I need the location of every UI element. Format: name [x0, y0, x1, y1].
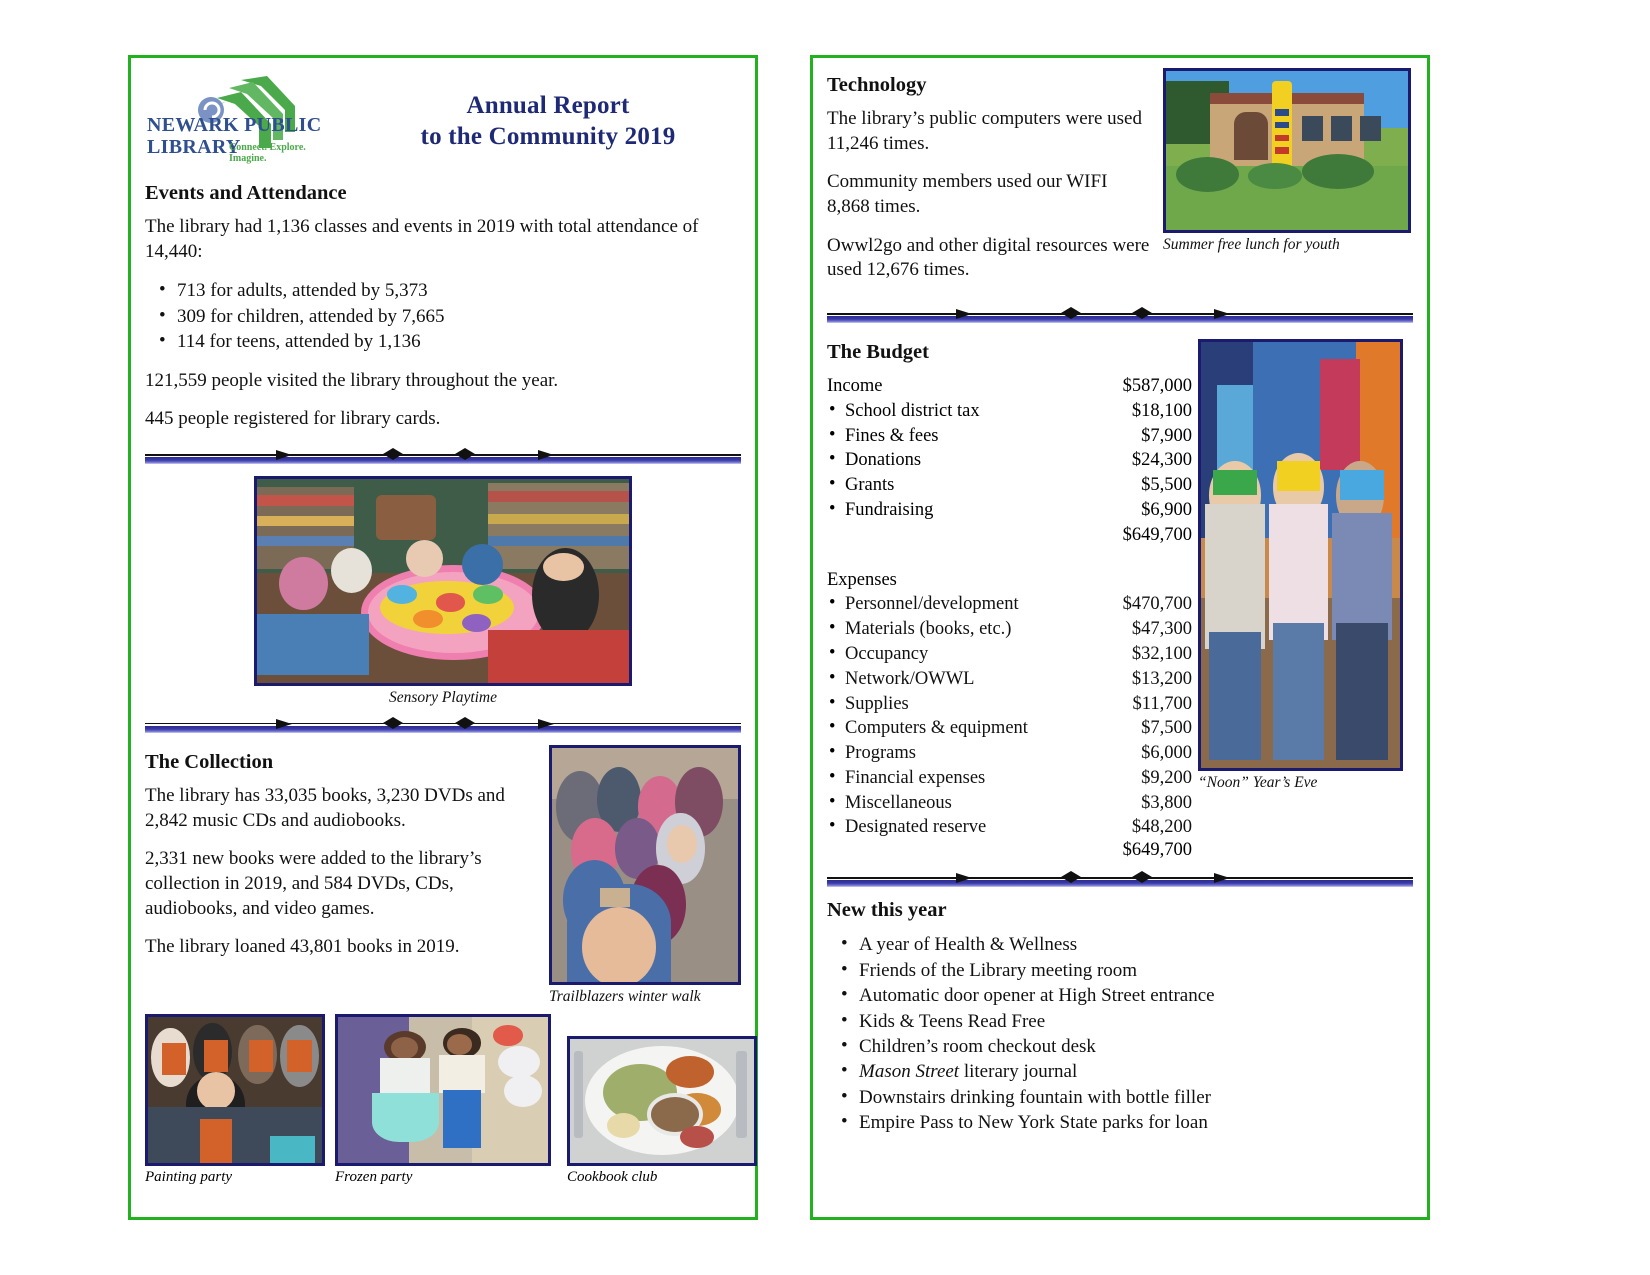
- list-item: Mason Street literary journal: [841, 1059, 1413, 1084]
- expense-value: $47,300: [1080, 617, 1192, 642]
- income-value: $18,100: [1072, 399, 1192, 424]
- income-value: $5,500: [1072, 473, 1192, 498]
- list-item: Kids & Teens Read Free: [841, 1009, 1413, 1034]
- list-item: A year of Health & Wellness: [841, 932, 1413, 957]
- table-row: Materials (books, etc.)$47,300: [827, 617, 1192, 642]
- expense-label: Miscellaneous: [845, 791, 1080, 816]
- events-visits: 121,559 people visited the library throu…: [145, 369, 741, 394]
- thumbnail-frozen-party: Frozen party: [335, 1014, 551, 1186]
- list-item: School district tax: [827, 399, 1072, 424]
- expense-label: Programs: [845, 741, 1080, 766]
- ornament-divider: [145, 446, 741, 466]
- expense-label: Personnel/development: [845, 592, 1080, 617]
- thumbnail-painting-party: Painting party: [145, 1014, 325, 1186]
- left-panel: NEWARK PUBLIC LIBRARY Connect. Explore. …: [128, 55, 758, 1220]
- income-value: $24,300: [1072, 448, 1192, 473]
- table-row: Network/OWWL$13,200: [827, 667, 1192, 692]
- list-item: Downstairs drinking fountain with bottle…: [841, 1085, 1413, 1110]
- income-value: $7,900: [1072, 424, 1192, 449]
- events-intro: The library had 1,136 classes and events…: [145, 215, 741, 264]
- income-total: $649,700: [1072, 523, 1192, 548]
- thumbnail-caption-italic: Frozen: [335, 1169, 377, 1185]
- expense-label: Materials (books, etc.): [845, 617, 1080, 642]
- expense-label: Supplies: [845, 692, 1080, 717]
- noon-caption: “Noon” Year’s Eve: [1198, 774, 1403, 792]
- annual-report-page: NEWARK PUBLIC LIBRARY Connect. Explore. …: [0, 0, 1650, 1275]
- list-item-text: literary journal: [959, 1061, 1077, 1082]
- technology-heading: Technology: [827, 74, 1151, 97]
- income-label: Income: [827, 374, 1072, 399]
- logo-tagline: Connect. Explore. Imagine.: [229, 142, 345, 164]
- income-table: Income School district tax Fines & fees …: [827, 374, 1192, 547]
- expense-value: $32,100: [1080, 642, 1192, 667]
- list-item: Grants: [827, 473, 1072, 498]
- expense-value: $48,200: [1080, 815, 1192, 840]
- income-value: $587,000: [1072, 374, 1192, 399]
- ornament-divider: [145, 715, 741, 735]
- title-line-1: Annual Report: [355, 90, 741, 121]
- title-line-2: to the Community 2019: [355, 121, 741, 152]
- table-row: Programs$6,000: [827, 741, 1192, 766]
- technology-para-3: Owwl2go and other digital resources were…: [827, 234, 1151, 283]
- sensory-photo-caption: Sensory Playtime: [145, 689, 741, 707]
- new-this-year-list: A year of Health & Wellness Friends of t…: [827, 932, 1413, 1136]
- expense-value: $11,700: [1080, 692, 1192, 717]
- events-bullet-list: 713 for adults, attended by 5,373 309 fo…: [145, 278, 741, 354]
- table-row: Financial expenses$9,200: [827, 766, 1192, 791]
- budget-heading: The Budget: [827, 341, 1192, 364]
- list-item: Empire Pass to New York State parks for …: [841, 1110, 1413, 1135]
- right-panel: Technology The library’s public computer…: [810, 55, 1430, 1220]
- expense-value: $6,000: [1080, 741, 1192, 766]
- thumbnail-cookbook-club: Cookbook club: [567, 1036, 757, 1186]
- expense-value: $9,200: [1080, 766, 1192, 791]
- summer-lunch-caption: Summer free lunch for youth: [1163, 236, 1413, 254]
- ornament-divider: [827, 305, 1413, 325]
- trailblazers-caption: Trailblazers winter walk: [549, 988, 741, 1006]
- income-item-list: School district tax Fines & fees Donatio…: [827, 399, 1072, 523]
- list-item: Automatic door opener at High Street ent…: [841, 983, 1413, 1008]
- sensory-playtime-photo: [254, 476, 632, 686]
- library-logo: NEWARK PUBLIC LIBRARY Connect. Explore. …: [145, 68, 345, 168]
- expense-label: Designated reserve: [845, 815, 1080, 840]
- expense-label: Financial expenses: [845, 766, 1080, 791]
- logo-name-line2: LIBRARY: [147, 136, 241, 159]
- logo-name-line1: NEWARK PUBLIC: [147, 114, 321, 137]
- income-values-column: $587,000 $18,100 $7,900 $24,300 $5,500 $…: [1072, 374, 1192, 547]
- expense-value: $3,800: [1080, 791, 1192, 816]
- technology-section: Technology The library’s public computer…: [827, 68, 1413, 297]
- collection-section: The Collection The library has 33,035 bo…: [145, 745, 741, 1006]
- trailblazers-photo: [549, 745, 741, 985]
- report-header: NEWARK PUBLIC LIBRARY Connect. Explore. …: [145, 68, 741, 176]
- list-item: 713 for adults, attended by 5,373: [159, 278, 741, 303]
- expenses-label: Expenses: [827, 568, 1192, 593]
- expenses-table: Personnel/development$470,700 Materials …: [827, 592, 1192, 840]
- thumbnail-caption: Cookbook club: [567, 1169, 757, 1186]
- collection-para-1: The library has 33,035 books, 3,230 DVDs…: [145, 784, 539, 833]
- thumbnail-caption: Painting party: [145, 1169, 325, 1186]
- collection-heading: The Collection: [145, 751, 539, 774]
- table-row: Personnel/development$470,700: [827, 592, 1192, 617]
- expense-label: Occupancy: [845, 642, 1080, 667]
- events-heading: Events and Attendance: [145, 182, 741, 205]
- list-item: 114 for teens, attended by 1,136: [159, 329, 741, 354]
- table-row: Designated reserve$48,200: [827, 815, 1192, 840]
- page-title: Annual Report to the Community 2019: [355, 68, 741, 153]
- technology-para-2: Community members used our WIFI 8,868 ti…: [827, 170, 1151, 219]
- list-item: Fines & fees: [827, 424, 1072, 449]
- expense-label: Computers & equipment: [845, 716, 1080, 741]
- technology-para-1: The library’s public computers were used…: [827, 107, 1151, 156]
- list-item: Friends of the Library meeting room: [841, 958, 1413, 983]
- collection-para-3: The library loaned 43,801 books in 2019.: [145, 935, 539, 960]
- list-item-italic: Mason Street: [859, 1061, 959, 1082]
- list-item: Children’s room checkout desk: [841, 1034, 1413, 1059]
- expense-value: $13,200: [1080, 667, 1192, 692]
- noon-years-eve-photo: [1198, 339, 1403, 771]
- list-item: Fundraising: [827, 498, 1072, 523]
- expense-label: Network/OWWL: [845, 667, 1080, 692]
- table-row: Computers & equipment$7,500: [827, 716, 1192, 741]
- ornament-divider: [827, 869, 1413, 889]
- table-row: Miscellaneous$3,800: [827, 791, 1192, 816]
- list-item: Donations: [827, 448, 1072, 473]
- thumbnail-row: Painting party: [145, 1014, 741, 1186]
- budget-section: The Budget Income School district tax Fi…: [827, 335, 1413, 861]
- table-row: Supplies$11,700: [827, 692, 1192, 717]
- table-row: Occupancy$32,100: [827, 642, 1192, 667]
- summer-lunch-photo: [1163, 68, 1411, 233]
- income-value: $6,900: [1072, 498, 1192, 523]
- thumbnail-caption-word: party: [381, 1169, 413, 1185]
- expenses-total: $649,700: [1070, 840, 1192, 861]
- events-cards: 445 people registered for library cards.: [145, 407, 741, 432]
- thumbnail-caption: Frozen party: [335, 1169, 551, 1186]
- list-item: 309 for children, attended by 7,665: [159, 304, 741, 329]
- expense-value: $470,700: [1080, 592, 1192, 617]
- collection-para-2: 2,331 new books were added to the librar…: [145, 847, 539, 921]
- expense-value: $7,500: [1080, 716, 1192, 741]
- new-this-year-heading: New this year: [827, 899, 1413, 922]
